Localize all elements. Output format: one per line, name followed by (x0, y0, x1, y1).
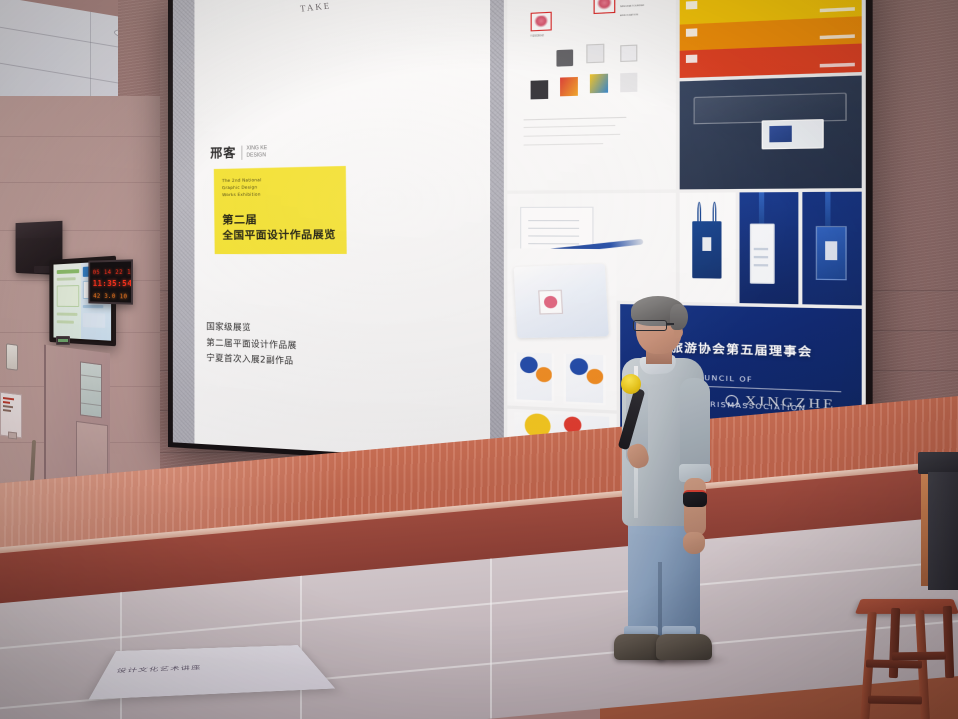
wall-sconce (6, 343, 18, 370)
screen-divider-texture (173, 0, 195, 444)
badge-en-3: Works Exhibition (222, 190, 338, 199)
work-tote-bag-mockup (679, 193, 736, 303)
exit-sign (56, 336, 70, 345)
badge-cn-1: 第二届 (222, 210, 338, 228)
lectern (918, 452, 958, 590)
brand-tagline-2: DESIGN (246, 152, 266, 158)
led-clock-row3: 42 3.0 10 (93, 292, 128, 301)
floor-banner-text: 设计文化艺术讲座 (115, 664, 202, 674)
lectern-body (928, 472, 958, 590)
door-window (80, 361, 102, 418)
presenter-smartwatch (683, 490, 707, 507)
work-lanyard-badge-mockup (740, 193, 798, 304)
lectern-edge (921, 474, 928, 586)
led-clock: 05 14 22 12 11:35:54 42 3.0 10 (88, 259, 133, 304)
brand-tagline: XING KE DESIGN (241, 145, 267, 160)
slide-brand-logo: 邢客 XING KE DESIGN (210, 143, 267, 161)
identity-title-en1: NINGXIA TOURISM (620, 5, 644, 10)
work-color-swatches (679, 0, 862, 78)
presenter (600, 296, 732, 668)
lectern-top (918, 452, 958, 474)
stool-leg (943, 606, 955, 678)
stool-rail (866, 660, 922, 669)
presenter-shoe (656, 634, 712, 660)
stool-rail (892, 652, 946, 661)
slide-caption: 国家级展览 第二届平面设计作品展 宁夏首次入展2副作品 (206, 320, 296, 371)
presenter-right-forearm (684, 478, 706, 536)
work-denim-card-mockup (679, 76, 862, 190)
work-identity-sheet: 宁夏旅游协会 NINGXIA TOURISM ASSOCIATION 宁夏旅游协… (507, 0, 675, 191)
presenter-hair-back (670, 304, 688, 330)
stool-rail (868, 696, 922, 705)
identity-title-en2: ASSOCIATION (620, 14, 638, 19)
brand-name: 邢客 (210, 144, 236, 162)
led-clock-row1: 05 14 22 12 (93, 268, 128, 276)
led-clock-row2: 11:35:54 (93, 279, 128, 287)
caption-line-3: 宁夏首次入展2副作品 (206, 352, 296, 371)
yellow-title-badge: The 2nd National Graphic Design Works Ex… (214, 166, 347, 254)
presenter-glasses (633, 320, 667, 331)
photo-scene: 05 14 22 12 11:35:54 42 3.0 10 邢客 (0, 0, 958, 719)
presenter-right-hand (683, 532, 705, 554)
wall-socket (8, 431, 17, 439)
slide-left-panel: 邢客 XING KE DESIGN The 2nd National Graph… (173, 0, 490, 461)
work-lanyard-badge-mockup (802, 192, 862, 305)
badge-cn-2: 全国平面设计作品展览 (222, 226, 338, 242)
brand-tagline-1: XING KE (246, 145, 267, 152)
wooden-stool[interactable] (856, 594, 958, 719)
